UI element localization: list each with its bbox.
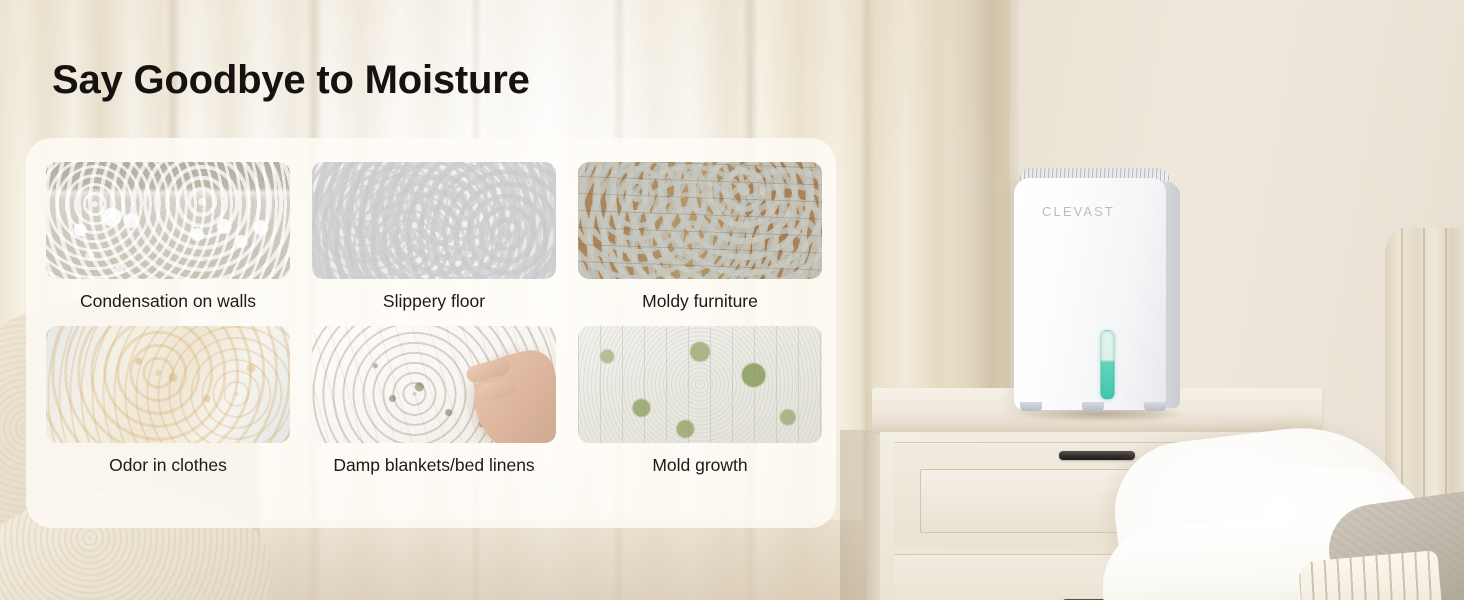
- stained-fabric-image: [46, 326, 290, 443]
- dehumidifier-product: CLEVAST: [1006, 168, 1186, 416]
- problem-tile-caption: Condensation on walls: [46, 291, 290, 312]
- moldy-wood-surface-image: [578, 162, 822, 279]
- drawer-handle-icon: [1059, 451, 1135, 460]
- product-body: CLEVAST: [1014, 178, 1166, 410]
- problem-tile[interactable]: Mold growth: [578, 326, 822, 476]
- problem-tile-caption: Damp blankets/bed linens: [312, 455, 556, 476]
- problem-tile[interactable]: Condensation on walls: [46, 162, 290, 312]
- product-feet: [1020, 402, 1166, 412]
- water-level-indicator: [1100, 330, 1115, 400]
- page-title: Say Goodbye to Moisture: [52, 58, 530, 103]
- product-marketing-banner: CLEVAST Say Goodbye to Moisture Condensa…: [0, 0, 1464, 600]
- water-droplets-on-floor-image: [312, 162, 556, 279]
- problem-tile-caption: Odor in clothes: [46, 455, 290, 476]
- problem-tile-caption: Mold growth: [578, 455, 822, 476]
- problem-tile[interactable]: Damp blankets/bed linens: [312, 326, 556, 476]
- mold-spotted-bedding-image: [312, 326, 556, 443]
- problem-tile[interactable]: Slippery floor: [312, 162, 556, 312]
- problem-tile[interactable]: Odor in clothes: [46, 326, 290, 476]
- product-brand-label: CLEVAST: [1042, 204, 1115, 219]
- water-droplets-on-wall-image: [46, 162, 290, 279]
- problem-tiles-grid: Condensation on walls Slippery floor Mol…: [46, 162, 822, 476]
- problem-tile-caption: Slippery floor: [312, 291, 556, 312]
- mold-colonies-on-wall-image: [578, 326, 822, 443]
- problem-tile[interactable]: Moldy furniture: [578, 162, 822, 312]
- problem-tile-caption: Moldy furniture: [578, 291, 822, 312]
